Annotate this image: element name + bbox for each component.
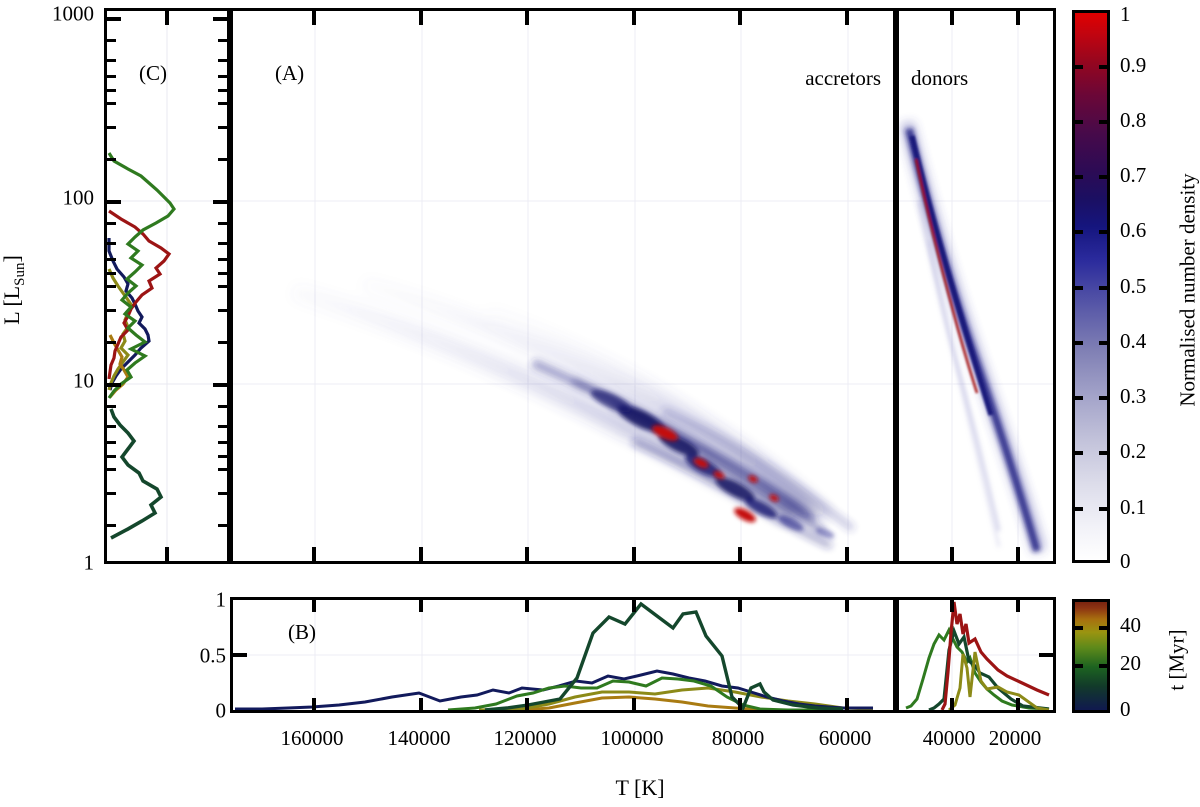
colorbar-density-tick-07: 0.7 (1120, 165, 1146, 186)
colorbar-density-tick-09: 0.9 (1120, 55, 1146, 76)
panel-b-tag: (B) (288, 620, 316, 645)
panel-donors-density (899, 11, 1053, 561)
y-tick-label-100: 100 (8, 188, 94, 209)
colorbar-density-tick-0: 0 (1120, 551, 1131, 572)
colorbar-time-tick-20: 20 (1120, 653, 1141, 674)
colorbar-density-tick-03: 0.3 (1120, 386, 1146, 407)
panel-b-y-tick-05: 0.5 (170, 646, 226, 667)
x-tick-label-80000: 80000 (712, 728, 765, 749)
y-tick-label-1000: 1000 (8, 4, 94, 25)
y-axis-title-sub: Sun (12, 263, 28, 286)
panel-b-curves (233, 600, 893, 710)
y-axis-title-close: ] (0, 255, 24, 262)
panel-c-top-tick (165, 11, 169, 25)
panel-c-plot-area (107, 11, 227, 561)
panel-donors-plot-area (899, 11, 1053, 561)
y-tick-label-1: 1 (8, 553, 94, 574)
panel-b-temperature-distribution: (B) (230, 597, 896, 713)
panel-c-bottom-tick (165, 547, 169, 561)
colorbar-density-tick-06: 0.6 (1120, 220, 1146, 241)
x-tick-label-20000: 20000 (989, 728, 1042, 749)
x-tick-label-140000: 140000 (388, 728, 451, 749)
panel-a-accretors-heatmap: (A) accretors (230, 8, 896, 564)
colorbar-time-tick-0: 0 (1120, 699, 1131, 720)
y-axis-title-main: L [L (0, 286, 24, 325)
colorbar-density-tick-08: 0.8 (1120, 110, 1146, 131)
panel-c-tag: (C) (139, 61, 167, 86)
x-tick-label-60000: 60000 (819, 728, 872, 749)
panel-a-donors-heatmap: donors (896, 8, 1056, 564)
colorbar-density-tick-01: 0.1 (1120, 497, 1146, 518)
colorbar-density-tick-1: 1 (1120, 4, 1131, 25)
colorbar-density-tick-04: 0.4 (1120, 331, 1146, 352)
panel-b2-curves (899, 600, 1053, 710)
panel-b-y-tick-1: 1 (170, 590, 226, 611)
panel-a-density (233, 11, 893, 561)
donors-label: donors (911, 66, 968, 91)
x-tick-label-40000: 40000 (923, 728, 976, 749)
panel-c-luminosity-distribution: (C) (104, 8, 230, 564)
panel-b2-plot-area (899, 600, 1053, 710)
x-tick-label-100000: 100000 (601, 728, 664, 749)
figure-root: 1000 100 10 1 L [LSun] (0, 0, 1200, 807)
panel-b-donors-distribution (896, 597, 1056, 713)
colorbar-time (1072, 599, 1110, 713)
x-tick-label-120000: 120000 (494, 728, 557, 749)
x-axis-title: T [K] (615, 775, 664, 801)
colorbar-density-tick-05: 0.5 (1120, 276, 1146, 297)
colorbar-density-label: Normalised number density (1176, 173, 1200, 406)
panel-b-y-tick-0: 0 (170, 701, 226, 722)
accretors-label: accretors (805, 66, 881, 91)
panel-a-plot-area (233, 11, 893, 561)
colorbar-time-label: t [Myr] (1165, 629, 1190, 690)
panel-c-curves (107, 11, 227, 561)
panel-b-plot-area (233, 600, 893, 710)
colorbar-density-tick-02: 0.2 (1120, 441, 1146, 462)
x-tick-label-160000: 160000 (281, 728, 344, 749)
y-axis-title: L [LSun] (0, 255, 29, 325)
panel-b2-y-tick-mark (1039, 653, 1053, 657)
colorbar-time-tick-40: 40 (1120, 615, 1141, 636)
y-tick-label-10: 10 (8, 371, 94, 392)
panel-b-y-tick-mark (233, 653, 247, 657)
panel-a-tag: (A) (275, 61, 304, 86)
